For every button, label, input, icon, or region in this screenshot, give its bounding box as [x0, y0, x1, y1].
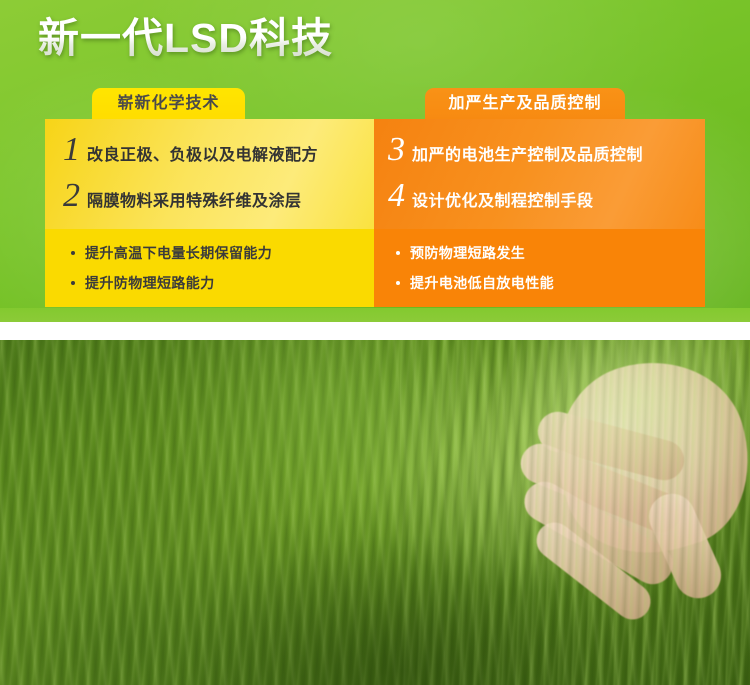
panel-quality-control: 3 加严的电池生产控制及品质控制 4 设计优化及制程控制手段 预防物理短路发生 …	[374, 119, 705, 307]
technology-section: 新一代LSD科技 崭新化学技术 加严生产及品质控制 1 改良正极、负极以及电解液…	[0, 0, 750, 322]
item-text: 隔膜物料采用特殊纤维及涂层	[87, 187, 302, 211]
item-text: 设计优化及制程控制手段	[412, 187, 594, 211]
tab-chemistry[interactable]: 崭新化学技术	[92, 88, 245, 120]
item-text: 加严的电池生产控制及品质控制	[412, 141, 643, 165]
panel-quality-bullet-area: 预防物理短路发生 提升电池低自放电性能	[374, 229, 705, 307]
panel-chemistry-bullet-area: 提升高温下电量长期保留能力 提升防物理短路能力	[45, 229, 374, 307]
panel-chemistry-numbered-area: 1 改良正极、负极以及电解液配方 2 隔膜物料采用特殊纤维及涂层	[45, 119, 374, 229]
page-title: 新一代LSD科技	[38, 14, 333, 63]
item-number: 2	[63, 179, 80, 213]
item-number: 4	[388, 179, 405, 213]
list-item: 提升高温下电量长期保留能力	[69, 245, 272, 262]
bullet-list: 提升高温下电量长期保留能力 提升防物理短路能力	[69, 245, 272, 305]
numbered-item: 4 设计优化及制程控制手段	[388, 179, 594, 213]
section-divider	[0, 322, 750, 340]
item-number: 1	[63, 133, 80, 167]
list-item: 提升电池低自放电性能	[394, 275, 554, 292]
tab-quality-control[interactable]: 加严生产及品质控制	[425, 88, 625, 120]
field-depth-overlay	[0, 340, 750, 685]
numbered-item: 3 加严的电池生产控制及品质控制	[388, 133, 643, 167]
panel-chemistry: 1 改良正极、负极以及电解液配方 2 隔膜物料采用特殊纤维及涂层 提升高温下电量…	[45, 119, 374, 307]
list-item: 提升防物理短路能力	[69, 275, 272, 292]
eco-section: 省钱又环保 每年全球消耗近200亿粒的一次性电池 并且每年弃置和花费在一次性电池…	[0, 340, 750, 685]
list-item: 预防物理短路发生	[394, 245, 554, 262]
item-number: 3	[388, 133, 405, 167]
numbered-item: 2 隔膜物料采用特殊纤维及涂层	[63, 179, 302, 213]
item-text: 改良正极、负极以及电解液配方	[87, 141, 318, 165]
numbered-item: 1 改良正极、负极以及电解液配方	[63, 133, 318, 167]
panel-quality-numbered-area: 3 加严的电池生产控制及品质控制 4 设计优化及制程控制手段	[374, 119, 705, 229]
bullet-list: 预防物理短路发生 提升电池低自放电性能	[394, 245, 554, 305]
